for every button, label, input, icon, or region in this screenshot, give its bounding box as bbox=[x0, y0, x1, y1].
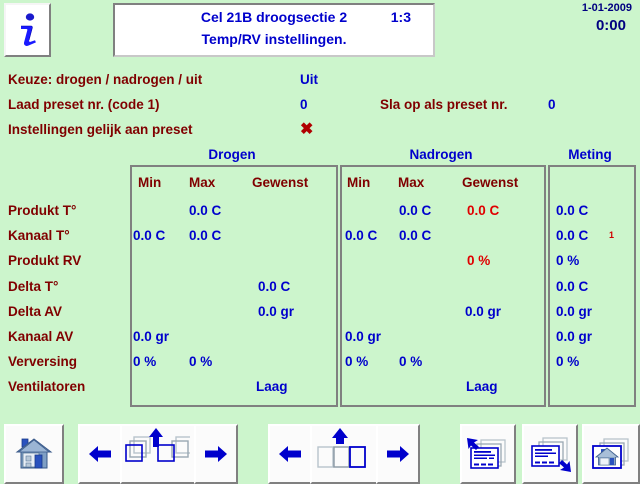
next-page-button[interactable] bbox=[376, 424, 420, 484]
save-preset-value[interactable]: 0 bbox=[548, 97, 556, 112]
right-arrow-icon bbox=[203, 443, 229, 465]
document-forward-icon bbox=[527, 432, 573, 476]
equal-preset-label: Instellingen gelijk aan preset bbox=[8, 122, 193, 137]
row-label-ventilatoren: Ventilatoren bbox=[8, 379, 85, 394]
row-label-kanaal-av: Kanaal AV bbox=[8, 329, 73, 344]
document-home-icon bbox=[588, 433, 634, 475]
equal-preset-status-icon: ✖ bbox=[300, 119, 313, 139]
document-back-icon bbox=[465, 432, 511, 476]
load-preset-label: Laad preset nr. (code 1) bbox=[8, 97, 160, 112]
cell-meting-verversing: 0 % bbox=[556, 354, 579, 369]
title-line-1: Cel 21B droogsectie 2 bbox=[115, 9, 433, 25]
cell-nadrogen-max-verversing[interactable]: 0 % bbox=[399, 354, 422, 369]
cell-nadrogen-gewenst-produkt-t[interactable]: 0.0 C bbox=[467, 203, 499, 218]
section-heading-drogen: Drogen bbox=[130, 147, 334, 162]
panel-nadrogen bbox=[340, 165, 546, 407]
column-header-nadrogen-max: Max bbox=[398, 175, 424, 190]
column-header-drogen-max: Max bbox=[189, 175, 215, 190]
cell-drogen-min-kanaal-t[interactable]: 0.0 C bbox=[133, 228, 165, 243]
cell-drogen-gewenst-delta-av[interactable]: 0.0 gr bbox=[258, 304, 294, 319]
row-label-delta-t: Delta T° bbox=[8, 279, 58, 294]
column-header-drogen-gewenst: Gewenst bbox=[252, 175, 308, 190]
save-preset-label: Sla op als preset nr. bbox=[380, 97, 508, 112]
cell-drogen-min-verversing[interactable]: 0 % bbox=[133, 354, 156, 369]
load-preset-value[interactable]: 0 bbox=[300, 97, 308, 112]
cell-meting-produkt-t: 0.0 C bbox=[556, 203, 588, 218]
cell-nadrogen-gewenst-produkt-rv[interactable]: 0 % bbox=[467, 253, 490, 268]
info-icon bbox=[13, 11, 43, 49]
cell-meting-kanaal-av: 0.0 gr bbox=[556, 329, 592, 344]
panel-drogen bbox=[130, 165, 338, 407]
previous-document-button[interactable] bbox=[460, 424, 516, 484]
left-arrow-icon bbox=[277, 443, 303, 465]
section-heading-nadrogen: Nadrogen bbox=[340, 147, 542, 162]
next-document-button[interactable] bbox=[522, 424, 578, 484]
cell-nadrogen-max-kanaal-t[interactable]: 0.0 C bbox=[399, 228, 431, 243]
cell-meting-kanaal-t-superscript: 1 bbox=[609, 230, 614, 240]
right-arrow-icon bbox=[385, 443, 411, 465]
cell-drogen-max-produkt-t[interactable]: 0.0 C bbox=[189, 203, 221, 218]
cell-meting-delta-t: 0.0 C bbox=[556, 279, 588, 294]
cell-drogen-max-kanaal-t[interactable]: 0.0 C bbox=[189, 228, 221, 243]
row-label-delta-av: Delta AV bbox=[8, 304, 62, 319]
cell-meting-produkt-rv: 0 % bbox=[556, 253, 579, 268]
cell-nadrogen-min-verversing[interactable]: 0 % bbox=[345, 354, 368, 369]
cell-drogen-gewenst-ventilatoren[interactable]: Laag bbox=[256, 379, 288, 394]
mode-label: Keuze: drogen / nadrogen / uit bbox=[8, 72, 202, 87]
previous-page-button[interactable] bbox=[268, 424, 312, 484]
title-line-2: Temp/RV instellingen. bbox=[115, 31, 433, 47]
cell-nadrogen-max-produkt-t[interactable]: 0.0 C bbox=[399, 203, 431, 218]
info-button[interactable] bbox=[4, 3, 51, 57]
row-label-verversing: Verversing bbox=[8, 354, 77, 369]
home-button[interactable] bbox=[4, 424, 64, 484]
cell-nadrogen-min-kanaal-t[interactable]: 0.0 C bbox=[345, 228, 377, 243]
mode-value[interactable]: Uit bbox=[300, 72, 318, 87]
app-screen: Cel 21B droogsectie 2 1:3 Temp/RV instel… bbox=[0, 0, 640, 483]
cell-drogen-min-kanaal-av[interactable]: 0.0 gr bbox=[133, 329, 169, 344]
column-header-nadrogen-min: Min bbox=[347, 175, 370, 190]
cell-meting-kanaal-t: 0.0 C bbox=[556, 228, 588, 243]
title-code: 1:3 bbox=[391, 9, 411, 25]
row-label-produkt-t: Produkt T° bbox=[8, 203, 76, 218]
row-label-produkt-rv: Produkt RV bbox=[8, 253, 81, 268]
section-heading-meting: Meting bbox=[548, 147, 632, 162]
cell-drogen-max-verversing[interactable]: 0 % bbox=[189, 354, 212, 369]
left-arrow-icon bbox=[87, 443, 113, 465]
row-label-kanaal-t: Kanaal T° bbox=[8, 228, 70, 243]
screen-group-up-button[interactable] bbox=[120, 424, 196, 484]
screens-up-icon bbox=[122, 426, 190, 478]
page-group-up-button[interactable] bbox=[310, 424, 378, 484]
column-header-nadrogen-gewenst: Gewenst bbox=[462, 175, 518, 190]
cell-meting-delta-av: 0.0 gr bbox=[556, 304, 592, 319]
pages-up-icon bbox=[312, 426, 372, 478]
home-icon bbox=[14, 436, 54, 472]
next-screen-button[interactable] bbox=[194, 424, 238, 484]
document-home-button[interactable] bbox=[582, 424, 640, 484]
cell-nadrogen-min-kanaal-av[interactable]: 0.0 gr bbox=[345, 329, 381, 344]
title-box: Cel 21B droogsectie 2 1:3 Temp/RV instel… bbox=[113, 3, 435, 57]
date-display: 1-01-2009 bbox=[582, 2, 632, 14]
column-header-drogen-min: Min bbox=[138, 175, 161, 190]
cell-nadrogen-gewenst-delta-av[interactable]: 0.0 gr bbox=[465, 304, 501, 319]
previous-screen-button[interactable] bbox=[78, 424, 122, 484]
time-display: 0:00 bbox=[596, 17, 626, 34]
cell-nadrogen-gewenst-ventilatoren[interactable]: Laag bbox=[466, 379, 498, 394]
cell-drogen-gewenst-delta-t[interactable]: 0.0 C bbox=[258, 279, 290, 294]
